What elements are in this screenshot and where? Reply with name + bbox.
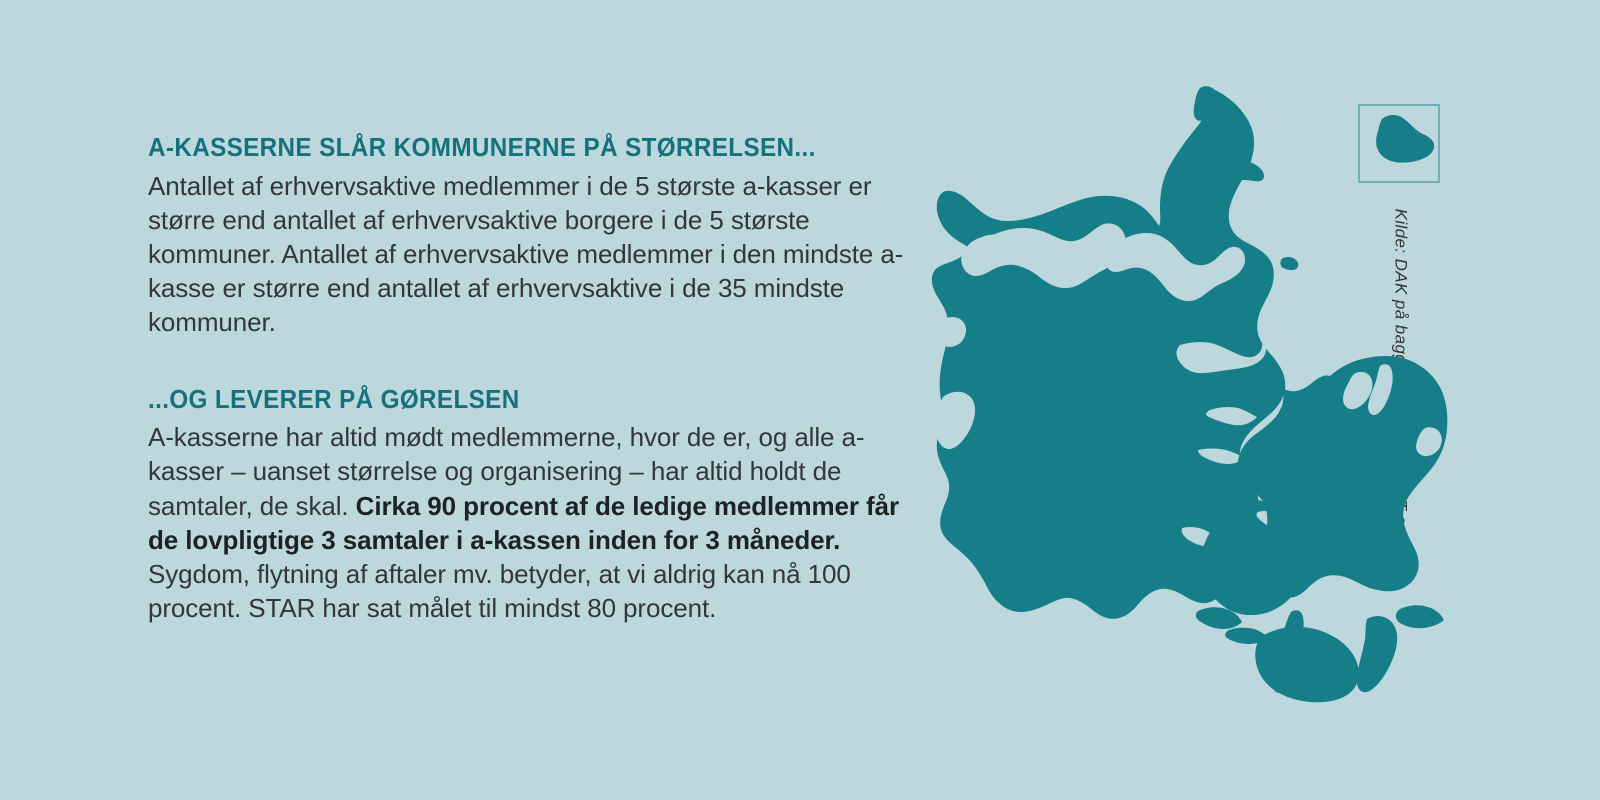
lolland-island	[1255, 627, 1358, 703]
falster-island	[1357, 616, 1398, 692]
anholt-island	[1280, 257, 1298, 270]
section-heading-1: A-KASSERNE SLÅR KOMMUNERNE PÅ STØRRELSEN…	[148, 134, 870, 164]
bornholm-island	[1376, 115, 1434, 163]
denmark-map	[880, 58, 1470, 728]
text-block-2: ...OG LEVERER PÅ GØRELSEN A-kasserne har…	[148, 386, 908, 626]
denmark-map-svg	[880, 58, 1470, 728]
section-body-1: Antallet af erhvervsaktive medlemmer i d…	[148, 169, 908, 340]
text-block-1: A-KASSERNE SLÅR KOMMUNERNE PÅ STØRRELSEN…	[148, 134, 908, 340]
section-body-2: A-kasserne har altid mødt medlemmerne, h…	[148, 420, 908, 625]
emphasis-run: Cirka 90 procent af de ledige medlemmer …	[148, 491, 899, 555]
text-column: A-KASSERNE SLÅR KOMMUNERNE PÅ STØRRELSEN…	[148, 134, 908, 625]
infographic-poster: A-KASSERNE SLÅR KOMMUNERNE PÅ STØRRELSEN…	[0, 0, 1600, 800]
mon-island	[1396, 605, 1444, 628]
section-heading-2: ...OG LEVERER PÅ GØRELSEN	[148, 386, 870, 416]
